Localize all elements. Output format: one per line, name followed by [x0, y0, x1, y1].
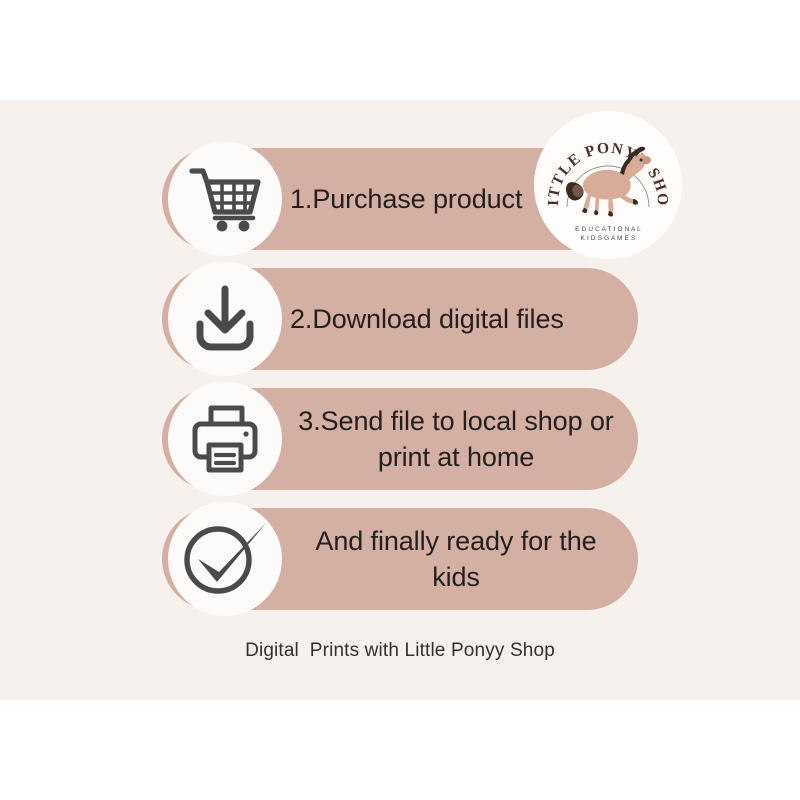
infographic-canvas: 1.Purchase product 2.Download digital fi… — [0, 100, 800, 700]
check-circle-icon — [168, 502, 282, 616]
step-label: And finally ready for the kids — [288, 523, 624, 595]
step-label: 3.Send file to local shop or print at ho… — [288, 403, 624, 475]
footer-caption: Digital Prints with Little Ponyy Shop — [0, 640, 800, 662]
shopping-cart-icon — [168, 142, 282, 256]
printer-icon — [168, 382, 282, 496]
brand-logo[interactable]: LITTLE PONYY SHOP — [534, 111, 682, 259]
download-icon — [168, 262, 282, 376]
step-row[interactable]: 2.Download digital files — [162, 268, 638, 370]
step-row[interactable]: And finally ready for the kids — [162, 508, 638, 610]
step-label: 2.Download digital files — [290, 301, 624, 337]
logo-tagline-line2: K I D S G A M E S — [581, 235, 636, 242]
logo-tagline-line1: E D U C A T I O N A L — [575, 226, 641, 233]
step-row[interactable]: 3.Send file to local shop or print at ho… — [162, 388, 638, 490]
